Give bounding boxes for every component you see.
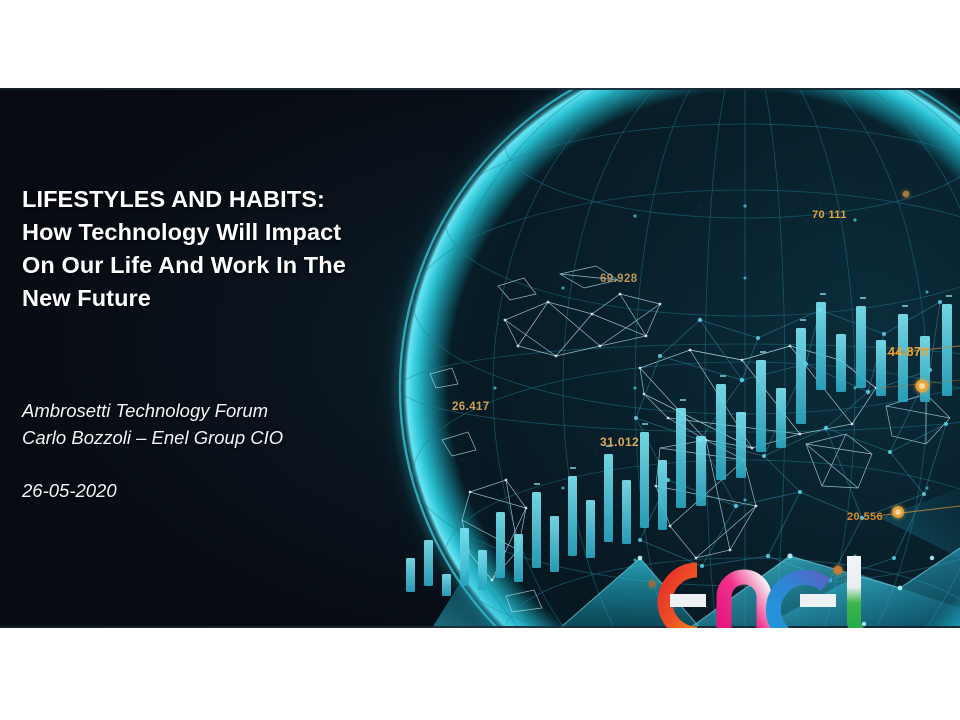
annotation-value-26417: 26.417 bbox=[452, 401, 490, 413]
slide-top-rule bbox=[0, 88, 960, 90]
enel-logo bbox=[640, 550, 930, 628]
background-artwork: 70 111 69.928 26.417 31.012 44.870 20.55… bbox=[0, 88, 960, 628]
slide-date: 26-05-2020 bbox=[22, 480, 117, 502]
slide-page: 70 111 69.928 26.417 31.012 44.870 20.55… bbox=[0, 0, 960, 720]
slide-subtitle: Ambrosetti Technology Forum Carlo Bozzol… bbox=[22, 397, 442, 451]
annotation-value-20556: 20.556 bbox=[847, 511, 883, 523]
annotation-value-69928: 69.928 bbox=[600, 273, 638, 285]
annotation-value-31012: 31.012 bbox=[600, 435, 639, 449]
annotation-value-70111: 70 111 bbox=[812, 209, 847, 221]
annotation-value-44870: 44.870 bbox=[888, 345, 929, 359]
logo-letter-n bbox=[724, 577, 764, 628]
slide-title: LIFESTYLES AND HABITS: How Technology Wi… bbox=[22, 183, 422, 315]
logo-letter-l bbox=[854, 556, 876, 628]
globe-graphic bbox=[393, 88, 960, 628]
presentation-slide: 70 111 69.928 26.417 31.012 44.870 20.55… bbox=[0, 88, 960, 628]
logo-letter-e2 bbox=[773, 578, 836, 629]
logo-letter-e1 bbox=[665, 570, 706, 628]
